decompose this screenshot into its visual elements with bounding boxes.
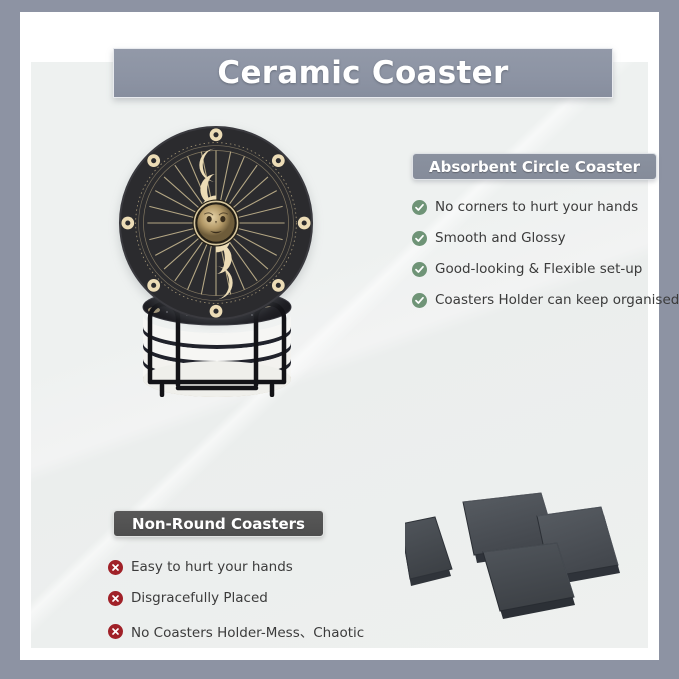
title-banner: Ceramic Coaster: [113, 48, 613, 98]
cons-list: Easy to hurt your hands Disgracefully Pl…: [108, 559, 398, 656]
page-title: Ceramic Coaster: [217, 55, 508, 91]
list-item-label: Disgracefully Placed: [131, 590, 268, 606]
check-circle-icon: [412, 262, 427, 277]
list-item-label: No Coasters Holder-Mess、Chaotic: [131, 621, 364, 641]
cross-circle-icon: [108, 560, 123, 575]
infographic-page: Ceramic Coaster: [0, 0, 679, 679]
list-item-label: No corners to hurt your hands: [435, 199, 638, 215]
list-item: Easy to hurt your hands: [108, 559, 398, 575]
list-item: Good-looking & Flexible set-up: [412, 261, 667, 277]
cons-heading-pill: Non-Round Coasters: [113, 510, 324, 537]
list-item: Smooth and Glossy: [412, 230, 667, 246]
circle-coaster-image: [118, 125, 314, 400]
white-card: Ceramic Coaster: [20, 12, 659, 660]
list-item-label: Easy to hurt your hands: [131, 559, 293, 575]
pros-heading-label: Absorbent Circle Coaster: [429, 158, 640, 176]
list-item: Coasters Holder can keep organised: [412, 292, 667, 308]
check-circle-icon: [412, 200, 427, 215]
slate-coasters-image: [405, 472, 655, 632]
moon-phase-disc: [118, 125, 314, 321]
pros-list: No corners to hurt your hands Smooth and…: [412, 199, 667, 323]
list-item: Disgracefully Placed: [108, 590, 398, 606]
check-circle-icon: [412, 231, 427, 246]
list-item-label: Good-looking & Flexible set-up: [435, 261, 642, 277]
pros-heading-pill: Absorbent Circle Coaster: [412, 153, 657, 180]
list-item: No Coasters Holder-Mess、Chaotic: [108, 621, 398, 641]
cross-circle-icon: [108, 591, 123, 606]
list-item: No corners to hurt your hands: [412, 199, 667, 215]
list-item-label: Smooth and Glossy: [435, 230, 566, 246]
check-circle-icon: [412, 293, 427, 308]
cross-circle-icon: [108, 624, 123, 639]
list-item-label: Coasters Holder can keep organised: [435, 292, 679, 308]
cons-heading-label: Non-Round Coasters: [132, 515, 305, 533]
